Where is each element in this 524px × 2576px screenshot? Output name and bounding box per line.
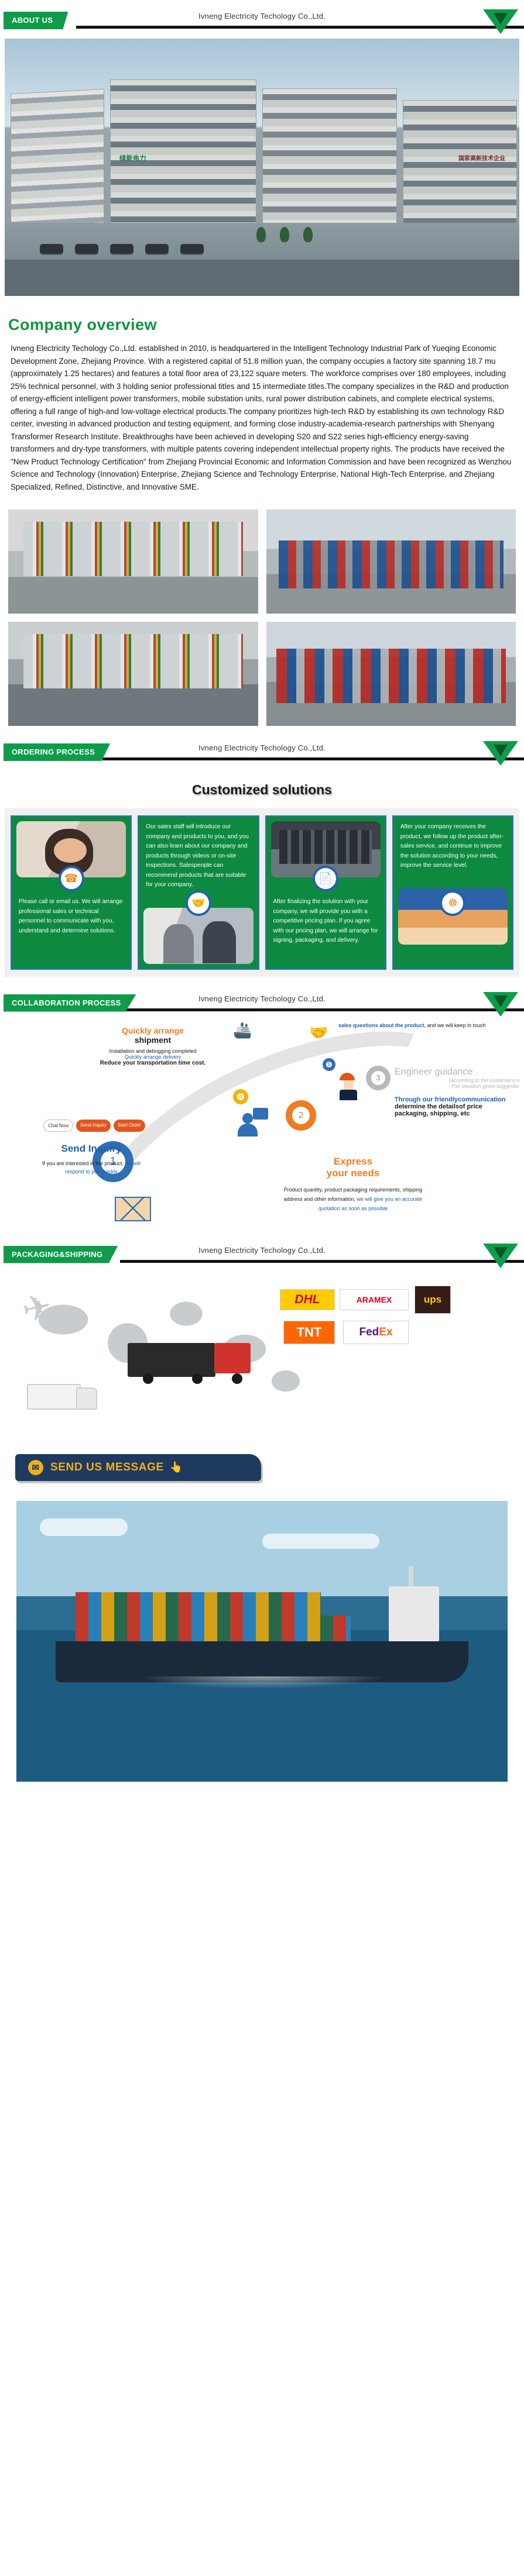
step-4-heading-accent: Quickly arrange xyxy=(56,1026,249,1035)
solution-card-text: After your company receives the product,… xyxy=(398,821,508,871)
step-ring-3: 3 xyxy=(366,1066,391,1090)
engineer-suit xyxy=(340,1090,357,1100)
envelope-icon xyxy=(115,1197,151,1221)
step-3-heading: Engineer guidance xyxy=(395,1067,519,1077)
banner-tag-packaging: PACKAGING&SHIPPING xyxy=(4,1246,118,1263)
step-4-line1: Installation and debugging completed xyxy=(56,1048,249,1054)
cta-wrap: ✉ SEND US MESSAGE 👆 xyxy=(5,1454,519,1490)
send-inquiry-button[interactable]: Send Inquiry xyxy=(76,1120,111,1132)
banner-rule xyxy=(120,1260,524,1263)
chevron-down-inner-icon xyxy=(494,13,508,25)
factory-photo-floor-wide-view xyxy=(8,622,258,726)
step-2-heading-line2: your needs xyxy=(280,1168,426,1179)
factory-building-photo: 绿能电力 国家高新技术企业 xyxy=(5,39,519,296)
carrier-logo-ups: ups xyxy=(415,1286,451,1314)
step-2-heading-line1: Express xyxy=(280,1156,426,1168)
lifebuoy-support-icon: ☸ xyxy=(440,890,465,916)
chat-bubble-icon xyxy=(253,1108,268,1120)
truck-icon xyxy=(128,1343,251,1379)
person-body xyxy=(238,1124,258,1137)
ship-wake xyxy=(16,1676,508,1711)
step-ring-5: 5 xyxy=(323,1058,335,1071)
parked-car xyxy=(180,244,204,254)
delivery-van-icon xyxy=(27,1384,97,1412)
truck-cab xyxy=(214,1343,251,1373)
customized-solutions-wrap: ☎ Please call or email us. We will arran… xyxy=(5,808,519,977)
shipping-carriers-graphic: ✈ DHL ARAMEX ups TNT FedEx xyxy=(5,1273,519,1448)
carrier-logo-dhl: DHL xyxy=(280,1289,335,1310)
envelope-icon: ✉ xyxy=(28,1460,43,1475)
step-3-sub2: The situation gives suggestions) xyxy=(395,1083,519,1089)
container-cargo-ship-photo xyxy=(16,1501,508,1782)
parked-car xyxy=(110,244,133,254)
step-4-heading: shipment xyxy=(56,1035,249,1045)
banner-rule xyxy=(76,26,524,29)
cloud xyxy=(262,1534,379,1549)
page-title-company-overview: Company overview xyxy=(8,316,524,334)
step-1-heading: Send Inquiry xyxy=(39,1143,144,1155)
engineer-icon xyxy=(340,1073,357,1100)
tree xyxy=(280,227,289,242)
carrier-logo-fedex: FedEx xyxy=(343,1321,409,1344)
step-3-body-line2: packaging, shipping, etc xyxy=(395,1110,519,1117)
banner-tag-collaboration: COLLABORATION PROCESS xyxy=(4,994,136,1012)
landing-page: ABOUT US Ivneng Electricity Techology Co… xyxy=(0,8,524,1782)
company-overview-body: Ivneng Electricity Techology Co.,Ltd. es… xyxy=(11,342,513,493)
parked-car xyxy=(75,244,98,254)
step-3-accent-line: Through our friendlycommunication xyxy=(395,1096,519,1103)
factory-photo-cabinet-assembly-line xyxy=(8,509,258,614)
hard-hat-icon xyxy=(340,1073,355,1080)
container-stack-upper xyxy=(76,1592,321,1616)
parked-car xyxy=(145,244,169,254)
step-5-body: When the product arrives at the destinat… xyxy=(338,1021,519,1029)
container-stack-lower xyxy=(76,1616,351,1642)
engineer-face xyxy=(344,1080,353,1090)
send-us-message-label: SEND US MESSAGE xyxy=(50,1461,164,1474)
person-head xyxy=(242,1113,253,1124)
solution-card[interactable]: Our sales staff will introduce our compa… xyxy=(138,815,259,970)
handshake-icon: 🤝 xyxy=(309,1024,328,1042)
solution-card[interactable]: After your company receives the product,… xyxy=(392,815,513,970)
ship-icon: 🚢 xyxy=(233,1021,252,1039)
solution-card[interactable]: 📄 After finalizing the solution with you… xyxy=(265,815,386,970)
step-3-body-line1: determine the detailsof price xyxy=(395,1103,519,1110)
step-ring-4: 4 xyxy=(233,1089,248,1104)
chevron-down-inner-icon xyxy=(494,1247,508,1259)
tree xyxy=(303,227,313,242)
truck-trailer xyxy=(128,1343,215,1377)
step-2-body: Product quantity, product packaging requ… xyxy=(280,1185,426,1213)
cloud xyxy=(40,1518,128,1536)
pointer-hand-icon: 👆 xyxy=(170,1461,183,1473)
carrier-logo-tnt: TNT xyxy=(283,1321,335,1344)
factory-photo-transformer-testing xyxy=(266,622,516,726)
action-chip-row: Chat Now Send Inquiry Start Order xyxy=(43,1120,145,1132)
building-block-d xyxy=(403,100,517,226)
tree xyxy=(256,227,266,242)
step-1-body: If you are interested in the product, we… xyxy=(39,1159,144,1176)
step-2-label: Express your needs Product quantity, pro… xyxy=(280,1156,426,1213)
start-order-button[interactable]: Start Order xyxy=(114,1120,145,1132)
step-4-line3: Reduce your transportation time cost. xyxy=(56,1060,249,1066)
carrier-logo-aramex: ARAMEX xyxy=(340,1289,409,1310)
van-cab xyxy=(76,1387,97,1410)
roof-sign-right: 国家高新技术企业 xyxy=(458,153,505,162)
section-banner-packaging: PACKAGING&SHIPPING Ivneng Electricity Te… xyxy=(0,1242,524,1269)
chevron-down-inner-icon xyxy=(494,996,508,1007)
banner-rule xyxy=(120,1008,524,1011)
step-5-label: Successful Transaction When the product … xyxy=(338,1021,519,1029)
solution-card-text: Our sales staff will introduce our compa… xyxy=(143,821,253,890)
ship-superstructure xyxy=(389,1586,439,1642)
building-block-a xyxy=(11,89,104,228)
step-3-sub1: (according to the customer's reali xyxy=(395,1077,519,1083)
step-1-body-plain: If you are interested in the product, xyxy=(42,1160,125,1166)
step-1-label: Send Inquiry If you are interested in th… xyxy=(39,1143,144,1176)
road xyxy=(5,260,519,296)
truck-wheel xyxy=(143,1373,153,1384)
truck-wheel xyxy=(192,1373,203,1384)
step-ring-2: 2 xyxy=(286,1100,316,1131)
roof-sign-left: 绿能电力 xyxy=(119,153,146,163)
handshake-icon: 🤝 xyxy=(186,890,211,916)
banner-tag-about: ABOUT US xyxy=(4,12,68,29)
banner-tag-ordering: ORDERING PROCESS xyxy=(4,743,110,761)
section-banner-collaboration: COLLABORATION PROCESS Ivneng Electricity… xyxy=(0,991,524,1018)
factory-photo-grid xyxy=(8,509,516,726)
building-block-b xyxy=(110,80,256,226)
truck-wheel xyxy=(232,1373,242,1384)
step-4-label: Quickly arrange shipment Installation an… xyxy=(56,1026,249,1066)
document-contract-icon: 📄 xyxy=(313,866,338,891)
collaboration-process-diagram: 1 2 3 4 5 Quickly arrange shipment Insta… xyxy=(5,1021,519,1232)
banner-rule xyxy=(102,757,524,760)
banner-company-name: Ivneng Electricity Techology Co.,Ltd. xyxy=(0,12,524,20)
step-4-line2: Quickly arrange delivery xyxy=(56,1054,249,1060)
building-block-c xyxy=(262,88,397,226)
fedex-fed: Fed xyxy=(359,1326,379,1339)
send-us-message-button[interactable]: ✉ SEND US MESSAGE 👆 xyxy=(15,1454,261,1481)
step-3-label: Engineer guidance (according to the cust… xyxy=(395,1067,519,1117)
chevron-down-inner-icon xyxy=(494,745,508,756)
parked-car xyxy=(40,244,63,254)
step-5-body-plain-2: , and we will keep in touch xyxy=(424,1022,486,1028)
factory-photo-transformer-workshop xyxy=(266,509,516,614)
section-banner-ordering: ORDERING PROCESS Ivneng Electricity Tech… xyxy=(0,740,524,767)
customized-solutions-title: Customized solutions xyxy=(0,782,524,798)
headset-support-icon: ☎ xyxy=(59,866,84,891)
van-body xyxy=(27,1384,81,1410)
fedex-ex: Ex xyxy=(379,1326,392,1339)
section-banner-about: ABOUT US Ivneng Electricity Techology Co… xyxy=(0,8,524,35)
solution-card[interactable]: ☎ Please call or email us. We will arran… xyxy=(11,815,132,970)
customized-solutions-grid: ☎ Please call or email us. We will arran… xyxy=(11,815,513,970)
chat-now-button[interactable]: Chat Now xyxy=(43,1120,73,1132)
